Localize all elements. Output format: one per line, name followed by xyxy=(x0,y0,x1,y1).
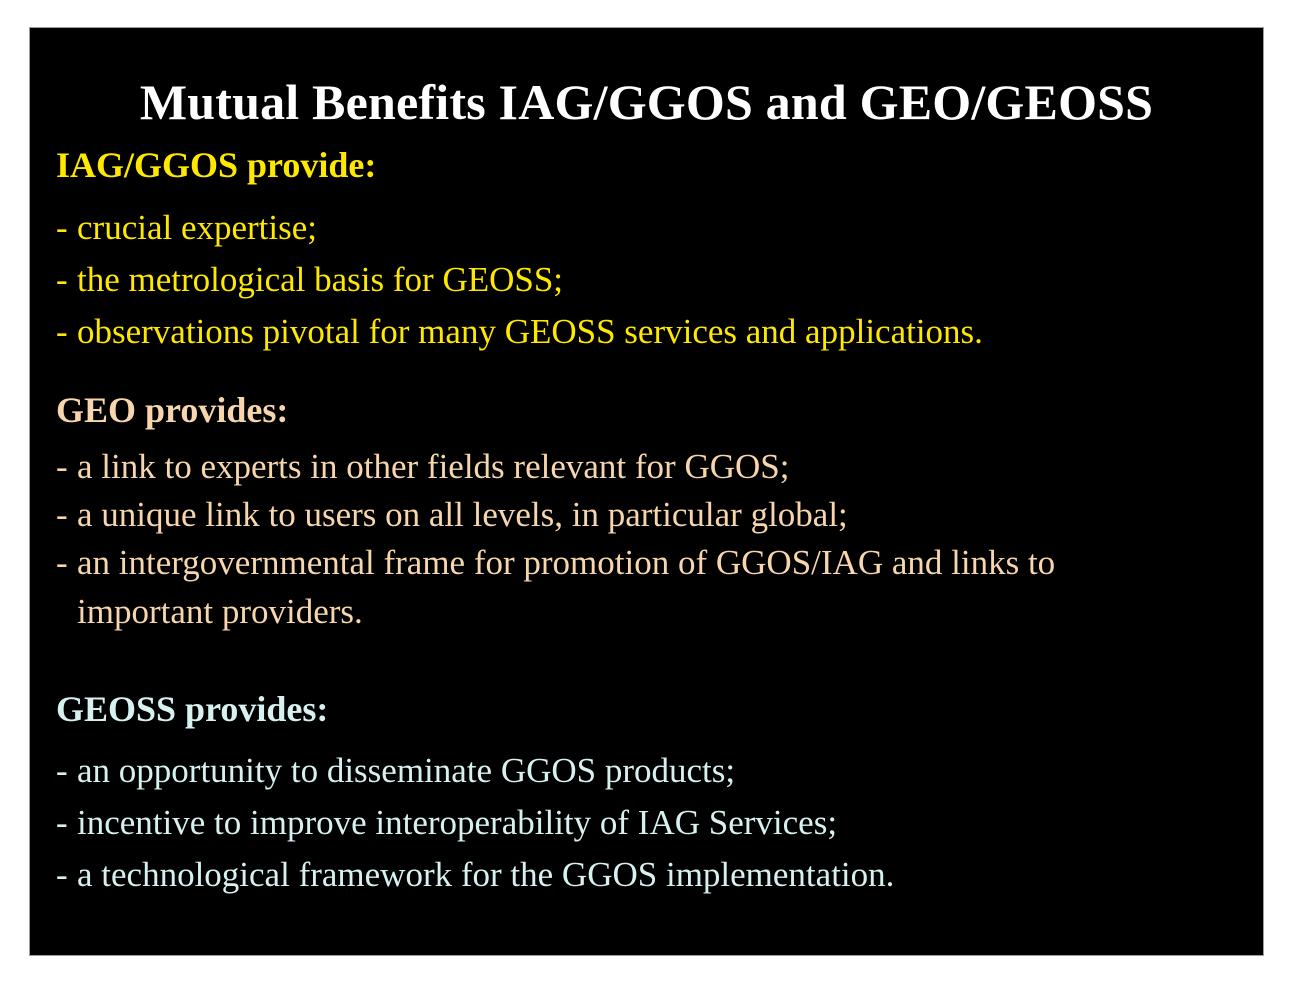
bullet-continuation-text: important providers. xyxy=(56,587,1236,637)
section-geoss: GEOSS provides: -an opportunity to disse… xyxy=(56,689,1236,901)
bullet-item: -a technological framework for the GGOS … xyxy=(56,849,1236,901)
slide-title: Mutual Benefits IAG/GGOS and GEO/GEOSS xyxy=(30,74,1263,130)
bullet-item: -crucial expertise; xyxy=(56,202,1236,254)
section-geo: GEO provides: -a link to experts in othe… xyxy=(56,390,1236,637)
bullet-item: -the metrological basis for GEOSS; xyxy=(56,254,1236,306)
slide-canvas: Mutual Benefits IAG/GGOS and GEO/GEOSS I… xyxy=(29,27,1264,956)
bullet-dash: - xyxy=(56,202,77,254)
bullet-text: crucial expertise; xyxy=(77,208,317,247)
bullet-item: -a unique link to users on all levels, i… xyxy=(56,491,1236,539)
bullet-item: -incentive to improve interoperability o… xyxy=(56,797,1236,849)
section-iag-ggos: IAG/GGOS provide: -crucial expertise; -t… xyxy=(56,145,1236,358)
bullet-dash: - xyxy=(56,491,77,539)
section-heading-geo: GEO provides: xyxy=(56,390,1236,430)
bullet-text: a unique link to users on all levels, in… xyxy=(77,495,848,534)
bullet-dash: - xyxy=(56,306,77,358)
section-heading-iag-ggos: IAG/GGOS provide: xyxy=(56,145,1236,185)
bullet-text: the metrological basis for GEOSS; xyxy=(77,260,563,299)
bullet-item: -an opportunity to disseminate GGOS prod… xyxy=(56,745,1236,797)
bullet-item: -a link to experts in other fields relev… xyxy=(56,443,1236,491)
bullet-text: a technological framework for the GGOS i… xyxy=(77,855,894,894)
bullet-item: -an intergovernmental frame for promotio… xyxy=(56,539,1236,587)
section-heading-geoss: GEOSS provides: xyxy=(56,689,1236,729)
bullet-dash: - xyxy=(56,797,77,849)
bullet-text: an opportunity to disseminate GGOS produ… xyxy=(77,751,735,790)
bullet-item: -observations pivotal for many GEOSS ser… xyxy=(56,306,1236,358)
bullet-text: incentive to improve interoperability of… xyxy=(77,803,837,842)
bullet-text: observations pivotal for many GEOSS serv… xyxy=(77,312,983,351)
bullet-dash: - xyxy=(56,443,77,491)
bullet-dash: - xyxy=(56,254,77,306)
bullet-dash: - xyxy=(56,539,77,587)
bullet-dash: - xyxy=(56,849,77,901)
bullet-dash: - xyxy=(56,745,77,797)
bullet-text: a link to experts in other fields releva… xyxy=(77,447,789,486)
bullet-text: an intergovernmental frame for promotion… xyxy=(77,543,1055,582)
